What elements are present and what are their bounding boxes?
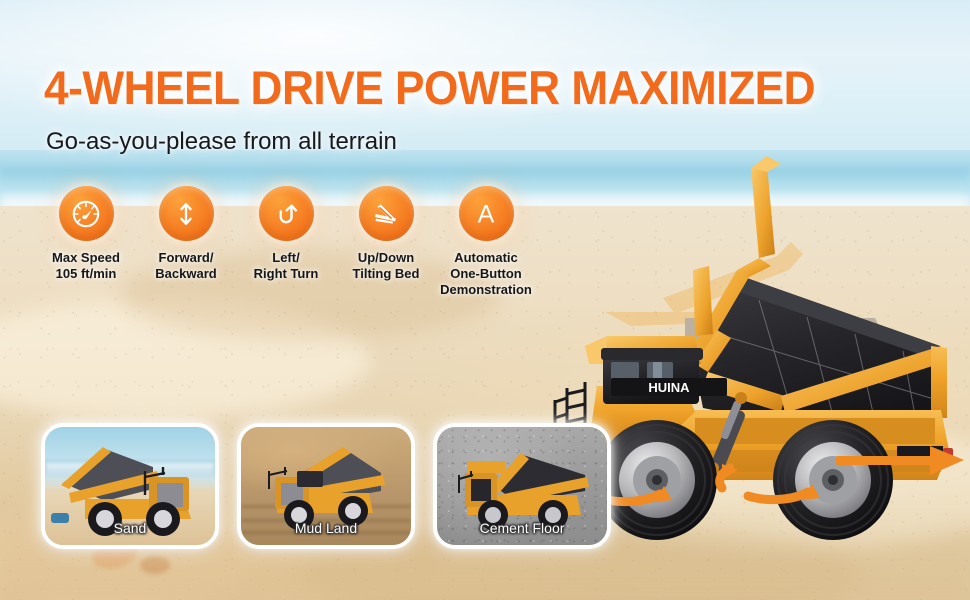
feature-label: Automatic One-Button Demonstration	[440, 250, 532, 298]
feature-item-max-speed: Max Speed 105 ft/min	[36, 186, 136, 298]
terrain-card-label: Sand	[45, 520, 215, 536]
mini-truck-cement	[459, 453, 589, 530]
up-down-arrow-icon	[159, 186, 214, 241]
feature-item-automatic-demo: A Automatic One-Button Demonstration	[436, 186, 536, 298]
brand-decal: HUINA	[611, 378, 727, 396]
tilting-bed-icon	[359, 186, 414, 241]
brand-text: HUINA	[648, 380, 690, 395]
terrain-card-label: Mud Land	[241, 520, 411, 536]
turn-arrow-icon	[259, 186, 314, 241]
forward-direction-arrow	[836, 446, 964, 475]
feature-label: Max Speed 105 ft/min	[52, 250, 120, 282]
shell-decoration	[140, 556, 170, 574]
terrain-card-mud-land[interactable]: Mud Land	[237, 423, 415, 549]
product-banner: 4-WHEEL DRIVE POWER MAXIMIZED Go-as-you-…	[0, 0, 970, 600]
feature-label: Up/Down Tilting Bed	[353, 250, 420, 282]
feature-list: Max Speed 105 ft/min Forward/ Backward	[36, 186, 536, 298]
feature-label: Left/ Right Turn	[254, 250, 319, 282]
dump-bed	[687, 156, 947, 442]
feature-item-tilting-bed: Up/Down Tilting Bed	[336, 186, 436, 298]
terrain-card-label: Cement Floor	[437, 520, 607, 536]
feature-item-left-right-turn: Left/ Right Turn	[236, 186, 336, 298]
letter-a-icon: A	[459, 186, 514, 241]
mini-truck-mud	[269, 447, 385, 530]
terrain-card-sand[interactable]: Sand	[41, 423, 219, 549]
speedometer-icon	[59, 186, 114, 241]
feature-label: Forward/ Backward	[155, 250, 216, 282]
terrain-card-cement-floor[interactable]: Cement Floor	[433, 423, 611, 549]
svg-text:A: A	[478, 200, 495, 228]
terrain-card-list: Sand	[41, 423, 611, 549]
feature-item-forward-backward: Forward/ Backward	[136, 186, 236, 298]
page-title: 4-WHEEL DRIVE POWER MAXIMIZED	[44, 64, 815, 111]
page-subtitle: Go-as-you-please from all terrain	[46, 128, 397, 156]
